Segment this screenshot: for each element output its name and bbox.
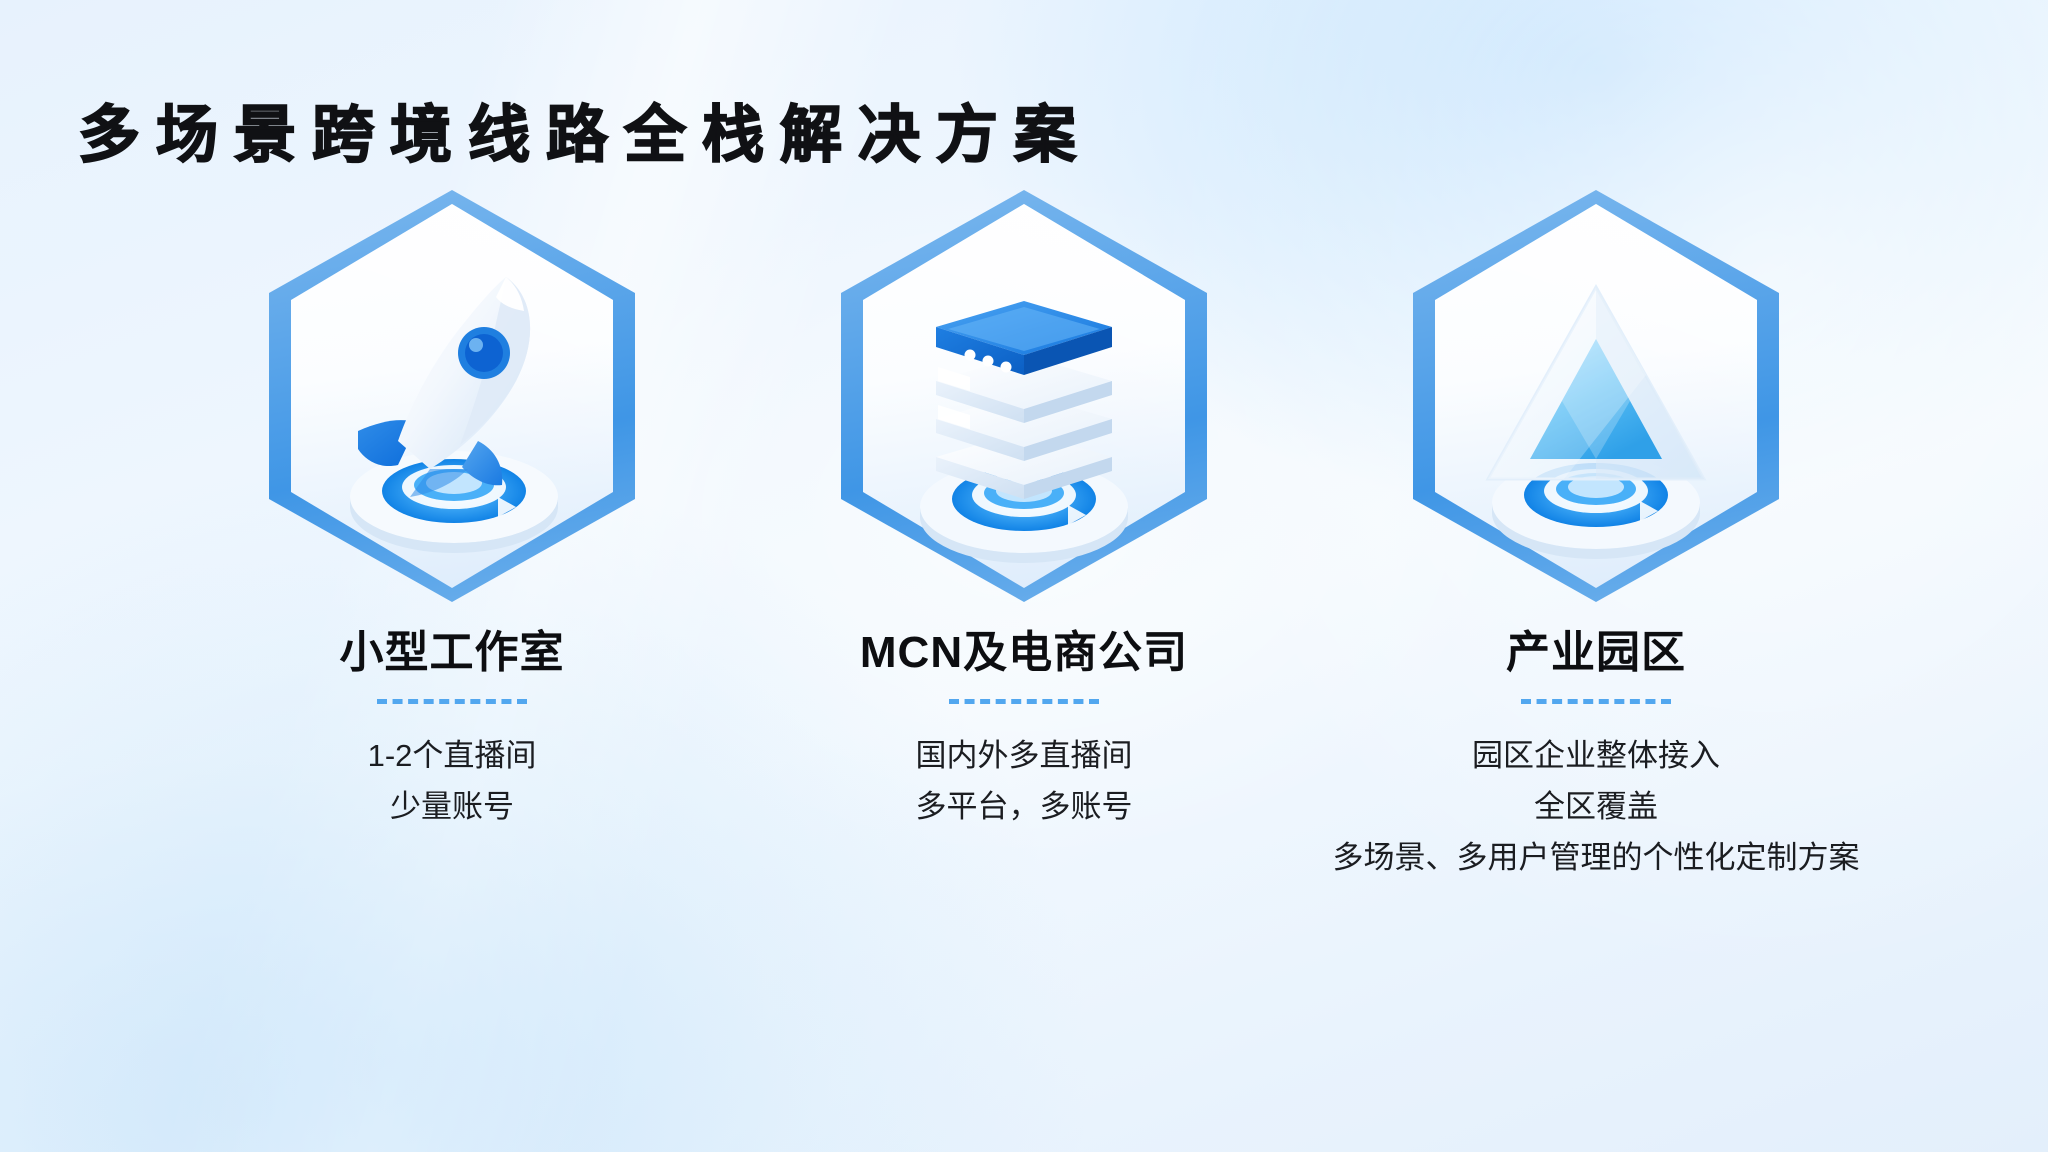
card-body-line: 国内外多直播间 <box>916 730 1133 781</box>
hexagon-badge <box>1406 190 1786 610</box>
card-title: MCN及电商公司 <box>860 628 1188 679</box>
card-divider <box>949 699 1099 704</box>
card-title: 产业园区 <box>1506 628 1686 679</box>
hexagon-badge <box>834 190 1214 610</box>
card-body: 国内外多直播间 多平台，多账号 <box>916 730 1133 832</box>
card-divider <box>377 699 527 704</box>
card-divider <box>1521 699 1671 704</box>
pyramid-icon <box>1446 235 1746 565</box>
card-body-line: 多场景、多用户管理的个性化定制方案 <box>1333 832 1860 883</box>
poster-canvas: 多场景跨境线路全栈解决方案 <box>0 0 2048 1152</box>
solution-card[interactable]: 小型工作室 1-2个直播间 少量账号 <box>192 190 712 832</box>
card-body-line: 全区覆盖 <box>1333 781 1860 832</box>
rocket-icon <box>302 235 602 565</box>
solution-card[interactable]: MCN及电商公司 国内外多直播间 多平台，多账号 <box>764 190 1284 832</box>
card-body: 1-2个直播间 少量账号 <box>368 730 537 832</box>
card-body-line: 1-2个直播间 <box>368 730 537 781</box>
page-title: 多场景跨境线路全栈解决方案 <box>78 102 1092 170</box>
server-stack-icon <box>874 235 1174 565</box>
hexagon-badge <box>262 190 642 610</box>
card-body-line: 园区企业整体接入 <box>1333 730 1860 781</box>
solution-card[interactable]: 产业园区 园区企业整体接入 全区覆盖 多场景、多用户管理的个性化定制方案 <box>1336 190 1856 883</box>
card-body: 园区企业整体接入 全区覆盖 多场景、多用户管理的个性化定制方案 <box>1333 730 1860 883</box>
card-body-line: 多平台，多账号 <box>916 781 1133 832</box>
card-title: 小型工作室 <box>340 628 565 679</box>
solution-cards-row: 小型工作室 1-2个直播间 少量账号 <box>0 190 2048 883</box>
card-body-line: 少量账号 <box>368 781 537 832</box>
